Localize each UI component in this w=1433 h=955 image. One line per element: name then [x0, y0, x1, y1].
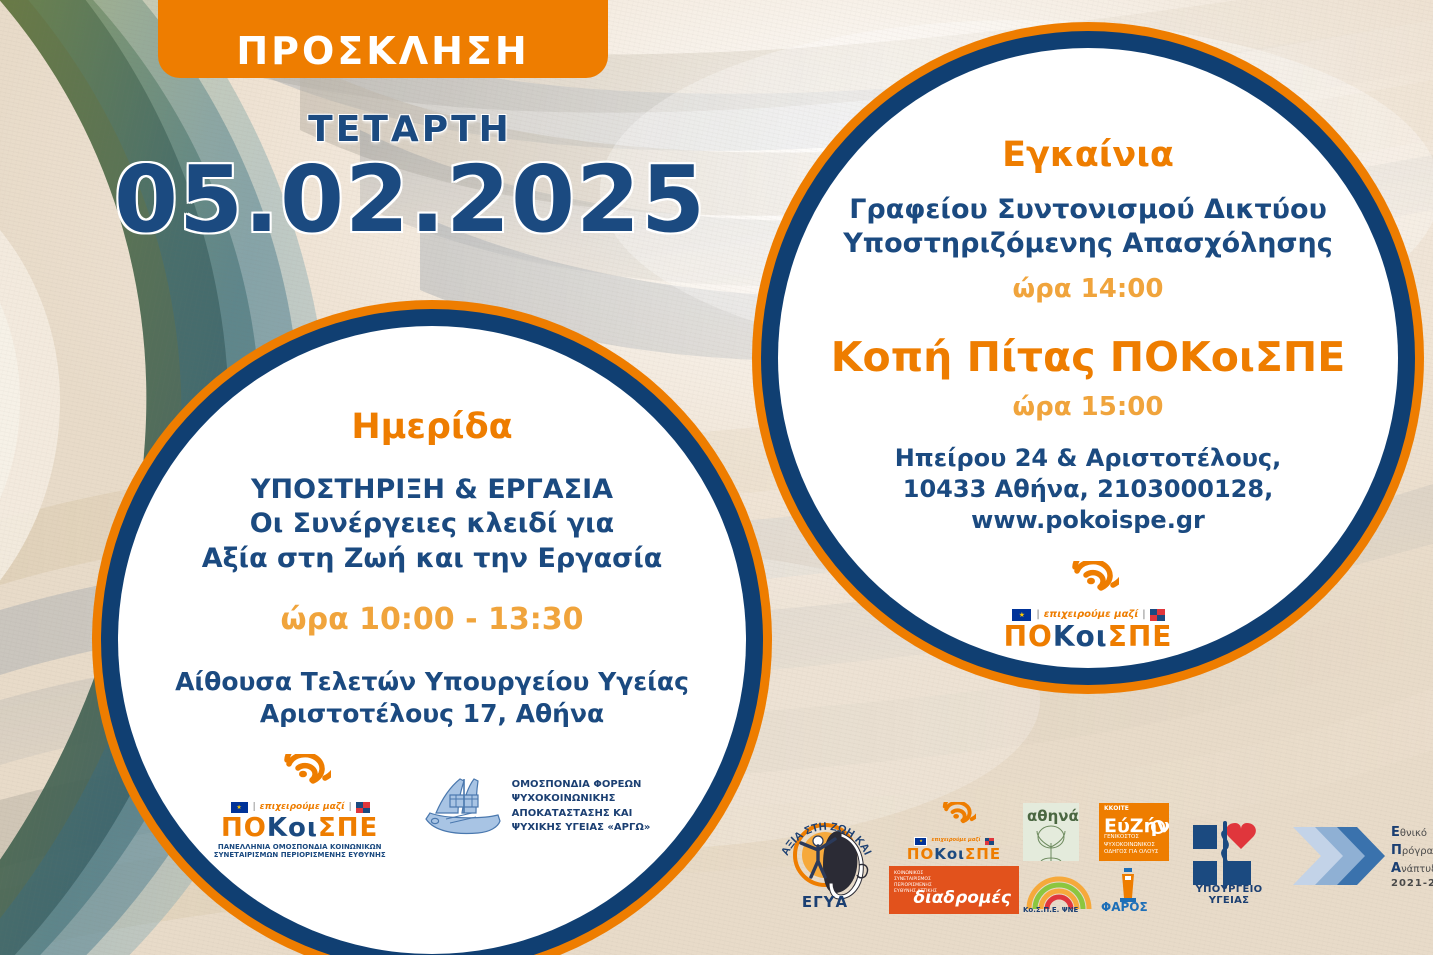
- invitation-poster: ΠΡΟΣΚΛΗΣΗ ΤΕΤΑΡΤΗ 05.02.2025 Εγκαίνια Γρ…: [0, 0, 1433, 955]
- espa-line-1-rest: θνικό: [1400, 828, 1427, 839]
- circle-navy-ring: Εγκαίνια Γραφείου Συντονισμού Δικτύου Υπ…: [761, 31, 1415, 685]
- diadromes-logo: ΚΟΙΝΩΝΙΚΟΣ ΣΥΝΕΤΑΙΡΙΣΜΟΣ ΠΕΡΙΟΡΙΣΜΕΝΗΣ Ε…: [889, 866, 1019, 914]
- conference-time-wrap: ώρα 10:00 - 13:30: [118, 576, 746, 638]
- kespi-label: Κο.Σ.Π.Ε. ΨΝΕ: [1023, 906, 1078, 914]
- espa-years: 2021-2025: [1391, 877, 1433, 891]
- pokoispe-word-koi: Κοι: [1053, 620, 1108, 653]
- argo-line-2: ΨΥΧΟΚΟΙΝΩΝΙΚΗΣ: [512, 792, 651, 807]
- euzin-logo: ΚΚΟΙΤΕ ΕύΖήν ΓΕΝΙΚΟΣΤΟΣ ΨΥΧΟΚΟΙΝΩΝΙΚΟΣ Ο…: [1099, 803, 1169, 861]
- pokoispe-word-koi: Κοι: [934, 845, 965, 863]
- pokoispe-wordmark: ΠΟΚοιΣΠΕ: [907, 847, 1001, 862]
- espa-text: Εθνικό Πρόγραμμα Ανάπτυξης 2021-2025: [1391, 824, 1433, 890]
- diadromes-sub-line-2: ΣΥΝΕΤΑΙΡΙΣΜΟΣ: [894, 877, 937, 883]
- pita-time: ώρα 15:00: [826, 392, 1350, 423]
- pokoispe-word-spe: ΣΠΕ: [965, 845, 1001, 863]
- pita-title: Κοπή Πίτας ΠΟΚοιΣΠΕ: [826, 335, 1350, 380]
- espa-logo: Εθνικό Πρόγραμμα Ανάπτυξης 2021-2025: [1289, 817, 1433, 899]
- divider: |: [1142, 610, 1145, 620]
- argo-logo: ΟΜΟΣΠΟΝΔΙΑ ΦΟΡΕΩΝ ΨΥΧΟΚΟΙΝΩΝΙΚΗΣ ΑΠΟΚΑΤΑ…: [420, 769, 651, 845]
- diadromes-label: διαδρομές: [913, 888, 1011, 908]
- conference-subtitle-wrap: ΥΠΟΣΤΗΡΙΞΗ & ΕΡΓΑΣΙΑ Οι Συνέργειες κλειδ…: [118, 447, 746, 577]
- small-sponsor-grid: ★ επιχειρούμε μαζί ΠΟΚοιΣΠΕ αθηνά: [889, 802, 1169, 914]
- opening-address-line-1: Ηπείρου 24 & Αριστοτέλους,: [826, 443, 1350, 474]
- egya-label: ΕΓΥΑ: [775, 893, 875, 911]
- eu-slogan-label: επιχειρούμε μαζί: [931, 838, 980, 843]
- ministry-of-health-label: ΥΠΟΥΡΓΕΙΟ ΥΓΕΙΑΣ: [1177, 884, 1281, 906]
- argo-line-3: ΑΠΟΚΑΤΑΣΤΑΣΗΣ ΚΑΙ: [512, 807, 651, 822]
- argo-text: ΟΜΟΣΠΟΝΔΙΑ ΦΟΡΕΩΝ ΨΥΧΟΚΟΙΝΩΝΙΚΗΣ ΑΠΟΚΑΤΑ…: [512, 778, 651, 836]
- event-weekday: ΤΕΤΑΡΤΗ: [110, 112, 710, 148]
- opening-lead-line-2: Υποστηριζόμενης Απασχόλησης: [826, 227, 1350, 262]
- faros-logo: ΦΑΡΟΣ: [1099, 866, 1157, 914]
- invitation-badge: ΠΡΟΣΚΛΗΣΗ: [158, 0, 608, 78]
- faros-label: ΦΑΡΟΣ: [1101, 900, 1148, 914]
- pita-time-wrap: ώρα 15:00: [778, 380, 1398, 423]
- pokoispe-subtitle-line-1: ΠΑΝΕΛΛΗΝΙΑ ΟΜΟΣΠΟΝΔΙΑ ΚΟΙΝΩΝΙΚΩΝ: [214, 843, 386, 851]
- pokoispe-word-po: ΠΟ: [1004, 620, 1053, 653]
- kespi-rainbow-logo: Κο.Σ.Π.Ε. ΨΝΕ: [1023, 866, 1095, 914]
- pokoispe-wordmark: ΠΟΚοιΣΠΕ: [1004, 623, 1173, 651]
- espa-chevrons-icon: [1289, 817, 1385, 899]
- eu-slogan-label: επιχειρούμε μαζί: [260, 803, 345, 812]
- ministry-of-health-logo: ΥΠΟΥΡΓΕΙΟ ΥΓΕΙΑΣ: [1183, 810, 1275, 906]
- euzin-sub-line-3: ΟΔΗΓΟΣ ΓΙΑ ΟΛΟΥΣ: [1104, 849, 1158, 856]
- circle-navy-ring: Ημερίδα ΥΠΟΣΤΗΡΙΞΗ & ΕΡΓΑΣΙΑ Οι Συνέργει…: [101, 309, 763, 955]
- espa-line-3-rest: νάπτυξης: [1401, 864, 1433, 875]
- egya-logo: ΑΞΙΑ ΣΤΗ ΖΩΗ ΚΑΙ ΤΗΝ ΕΡΓΑΣΙΑ ΕΓΥΑ: [775, 803, 875, 913]
- opening-website[interactable]: www.pokoispe.gr: [826, 505, 1350, 536]
- pokoispe-logo: ★ | επιχειρούμε μαζί | ΠΟΚοιΣΠΕ: [214, 754, 386, 859]
- pokoispe-word-spe: ΣΠΕ: [318, 813, 378, 843]
- opening-ceremony-circle: Εγκαίνια Γραφείου Συντονισμού Δικτύου Υπ…: [752, 22, 1424, 694]
- pokoispe-word-spe: ΣΠΕ: [1108, 620, 1173, 653]
- opening-time-wrap: ώρα 14:00: [778, 262, 1398, 305]
- opening-title: Εγκαίνια: [826, 136, 1350, 175]
- euzin-subtitle: ΓΕΝΙΚΟΣΤΟΣ ΨΥΧΟΚΟΙΝΩΝΙΚΟΣ ΟΔΗΓΟΣ ΓΙΑ ΟΛΟ…: [1104, 834, 1158, 856]
- pokoispe-word-po: ΠΟ: [907, 845, 934, 863]
- conference-logo-row: ★ | επιχειρούμε μαζί | ΠΟΚοιΣΠΕ: [214, 754, 651, 859]
- euzin-sub-line-2: ΨΥΧΟΚΟΙΝΩΝΙΚΟΣ: [1104, 842, 1158, 849]
- espa-line-2-initial: Π: [1391, 843, 1402, 858]
- conference-venue-line-2: Αριστοτέλους 17, Αθήνα: [166, 698, 698, 730]
- divider: |: [253, 803, 256, 812]
- pokoispe-word-koi: Κοι: [267, 813, 318, 843]
- conference-subtitle-line-1: ΥΠΟΣΤΗΡΙΞΗ & ΕΡΓΑΣΙΑ: [166, 473, 698, 508]
- pokoispe-spiral-icon: [932, 802, 976, 835]
- conference-subtitle-line-2: Οι Συνέργειες κλειδί για: [166, 507, 698, 542]
- invitation-badge-label: ΠΡΟΣΚΛΗΣΗ: [236, 32, 529, 70]
- espa-line-3: Ανάπτυξης: [1391, 860, 1433, 878]
- divider: |: [1036, 610, 1039, 620]
- euzin-top-label: ΚΚΟΙΤΕ: [1104, 805, 1129, 812]
- pokoispe-wordmark: ΠΟΚοιΣΠΕ: [221, 815, 378, 841]
- greek-flag-icon: [356, 802, 370, 813]
- sponsor-logo-strip: ΑΞΙΑ ΣΤΗ ΖΩΗ ΚΑΙ ΤΗΝ ΕΡΓΑΣΙΑ ΕΓΥΑ: [775, 795, 1415, 920]
- espa-line-3-initial: Α: [1391, 861, 1401, 876]
- athina-logo: αθηνά: [1023, 803, 1079, 861]
- opening-lead-wrap: Γραφείου Συντονισμού Δικτύου Υποστηριζόμ…: [778, 175, 1398, 262]
- circle-content-area: Ημερίδα ΥΠΟΣΤΗΡΙΞΗ & ΕΡΓΑΣΙΑ Οι Συνέργει…: [118, 326, 746, 954]
- conference-time: ώρα 10:00 - 13:30: [166, 602, 698, 638]
- event-date: 05.02.2025: [110, 152, 710, 249]
- pokoispe-spiral-icon: [269, 754, 331, 799]
- greek-flag-icon: [985, 838, 994, 845]
- argo-line-4: ΨΥΧΙΚΗΣ ΥΓΕΙΑΣ «ΑΡΓΩ»: [512, 821, 651, 836]
- pokoispe-subtitle-line-2: ΣΥΝΕΤΑΙΡΙΣΜΩΝ ΠΕΡΙΟΡΙΣΜΕΝΗΣ ΕΥΘΥΝΗΣ: [214, 851, 386, 859]
- pita-title-wrap: Κοπή Πίτας ΠΟΚοιΣΠΕ: [778, 305, 1398, 380]
- espa-line-2-rest: ρόγραμμα: [1402, 846, 1433, 857]
- conference-venue-wrap: Αίθουσα Τελετών Υπουργείου Υγείας Αριστο…: [118, 638, 746, 730]
- espa-line-1-initial: Ε: [1391, 825, 1400, 840]
- opening-time: ώρα 14:00: [826, 274, 1350, 305]
- opening-lead-line-1: Γραφείου Συντονισμού Δικτύου: [826, 193, 1350, 228]
- conference-venue-line-1: Αίθουσα Τελετών Υπουργείου Υγείας: [166, 666, 698, 698]
- pokoispe-logo: ★ επιχειρούμε μαζί ΠΟΚοιΣΠΕ: [889, 802, 1019, 862]
- conference-subtitle-line-3: Αξία στη Ζωή και την Εργασία: [166, 542, 698, 577]
- euzin-sub-line-1: ΓΕΝΙΚΟΣΤΟΣ: [1104, 834, 1158, 841]
- conference-circle: Ημερίδα ΥΠΟΣΤΗΡΙΞΗ & ΕΡΓΑΣΙΑ Οι Συνέργει…: [92, 300, 772, 955]
- opening-address-line-2: 10433 Αθήνα, 2103000128,: [826, 474, 1350, 505]
- divider: |: [349, 803, 352, 812]
- circle-content-area: Εγκαίνια Γραφείου Συντονισμού Δικτύου Υπ…: [778, 48, 1398, 668]
- eu-slogan-label: επιχειρούμε μαζί: [1044, 610, 1139, 620]
- argo-ship-icon: [420, 769, 502, 845]
- event-date-block: ΤΕΤΑΡΤΗ 05.02.2025: [110, 112, 710, 249]
- pokoispe-word-po: ΠΟ: [221, 813, 267, 843]
- argo-line-1: ΟΜΟΣΠΟΝΔΙΑ ΦΟΡΕΩΝ: [512, 778, 651, 793]
- conference-title: Ημερίδα: [166, 408, 698, 447]
- espa-line-2: Πρόγραμμα: [1391, 842, 1433, 860]
- espa-line-1: Εθνικό: [1391, 824, 1433, 842]
- pokoispe-subtitle: ΠΑΝΕΛΛΗΝΙΑ ΟΜΟΣΠΟΝΔΙΑ ΚΟΙΝΩΝΙΚΩΝ ΣΥΝΕΤΑΙ…: [214, 843, 386, 859]
- opening-address-wrap: Ηπείρου 24 & Αριστοτέλους, 10433 Αθήνα, …: [778, 423, 1398, 535]
- pokoispe-logo: ★ | επιχειρούμε μαζί | ΠΟΚοιΣΠΕ: [1004, 561, 1173, 651]
- pokoispe-spiral-icon: [1057, 561, 1119, 606]
